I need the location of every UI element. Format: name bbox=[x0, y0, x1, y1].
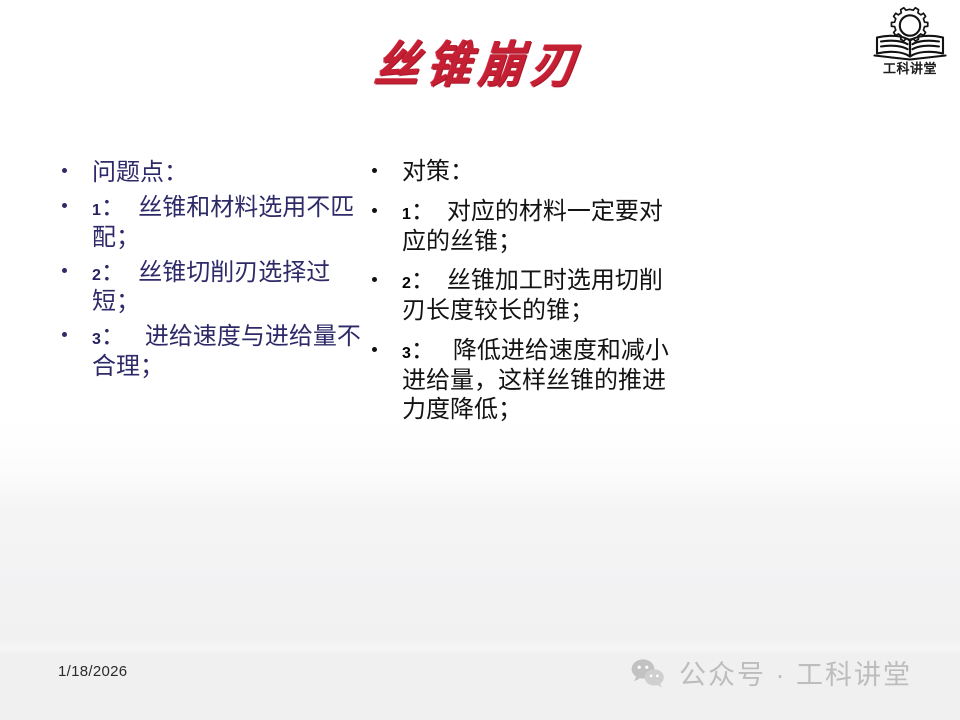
bullet-text: 问题点： bbox=[92, 159, 188, 186]
list-item: 对策： bbox=[362, 158, 682, 188]
bullet-number: 1 bbox=[402, 206, 411, 223]
bullet-number: 3 bbox=[402, 345, 411, 362]
gear-book-icon bbox=[872, 6, 948, 64]
list-item: 3： 进给速度与进给量不合理； bbox=[52, 322, 362, 381]
bullet-text: ： 降低进给速度和减小进给量，这样丝锥的推进力度降低； bbox=[402, 338, 669, 424]
bullet-text: ： 丝锥切削刃选择过短； bbox=[92, 259, 330, 315]
brand-logo-text: 工科讲堂 bbox=[883, 62, 937, 75]
content-columns: 问题点： 1： 丝锥和材料选用不匹配； 2： 丝锥切削刃选择过短； 3： 进给速… bbox=[0, 158, 960, 558]
bullet-number: 1 bbox=[92, 202, 101, 219]
problems-bullet-list: 问题点： 1： 丝锥和材料选用不匹配； 2： 丝锥切削刃选择过短； 3： 进给速… bbox=[52, 158, 362, 381]
brand-logo: 工科讲堂 bbox=[868, 6, 952, 90]
bullet-text: ： 丝锥加工时选用切削刃长度较长的锥； bbox=[402, 268, 663, 324]
footer-date: 1/18/2026 bbox=[58, 663, 127, 680]
list-item: 3： 降低进给速度和减小进给量，这样丝锥的推进力度降低； bbox=[362, 337, 682, 426]
list-item: 1： 对应的材料一定要对应的丝锥； bbox=[362, 198, 682, 258]
bullet-number: 3 bbox=[92, 331, 101, 348]
wechat-icon bbox=[631, 658, 665, 688]
list-item: 2： 丝锥加工时选用切削刃长度较长的锥； bbox=[362, 267, 682, 327]
list-item: 2： 丝锥切削刃选择过短； bbox=[52, 258, 362, 317]
slide-canvas: 丝锥崩刃 工科讲堂 问题点： bbox=[0, 0, 960, 720]
list-item: 1： 丝锥和材料选用不匹配； bbox=[52, 193, 362, 252]
bullet-number: 2 bbox=[92, 267, 101, 284]
countermeasures-bullet-list: 对策： 1： 对应的材料一定要对应的丝锥； 2： 丝锥加工时选用切削刃长度较长的… bbox=[362, 158, 682, 426]
list-item: 问题点： bbox=[52, 158, 362, 187]
bullet-number: 2 bbox=[402, 275, 411, 292]
bullet-text: 对策： bbox=[402, 159, 474, 185]
footer-brand-text: 公众号 · 工科讲堂 bbox=[679, 653, 912, 692]
slide-title-text: 丝锥崩刃 bbox=[372, 24, 588, 96]
slide-title: 丝锥崩刃 bbox=[0, 28, 960, 92]
bullet-text: ： 对应的材料一定要对应的丝锥； bbox=[402, 199, 663, 255]
footer-brand: 公众号 · 工科讲堂 bbox=[631, 653, 912, 692]
column-countermeasures: 对策： 1： 对应的材料一定要对应的丝锥； 2： 丝锥加工时选用切削刃长度较长的… bbox=[362, 158, 682, 436]
bullet-text: ： 进给速度与进给量不合理； bbox=[92, 323, 361, 379]
column-problems: 问题点： 1： 丝锥和材料选用不匹配； 2： 丝锥切削刃选择过短； 3： 进给速… bbox=[52, 158, 362, 387]
bullet-text: ： 丝锥和材料选用不匹配； bbox=[92, 194, 354, 250]
